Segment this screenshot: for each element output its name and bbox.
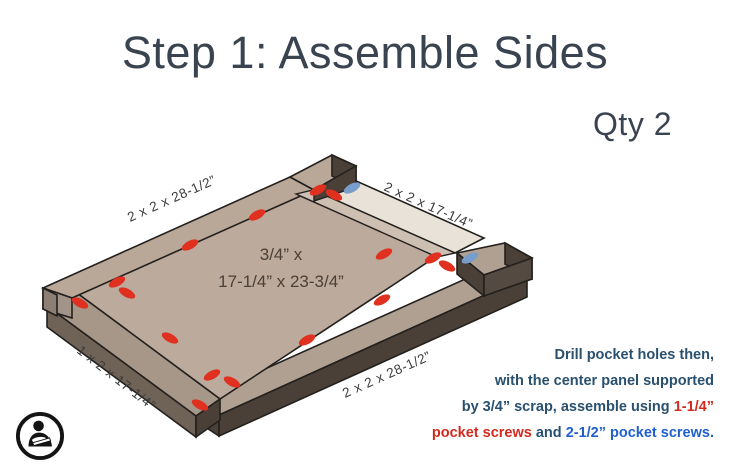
instructions-block: Drill pocket holes then, with the center… — [384, 342, 714, 446]
instruction-line-2: with the center panel supported — [384, 368, 714, 394]
panel-size-label: 17-1/4” x 23-3/4” — [218, 272, 344, 291]
panel-thickness-label: 3/4” x — [260, 245, 303, 264]
instruction-line-3-text: by 3/4” scrap, assemble using — [462, 399, 674, 415]
instruction-line-3: by 3/4” scrap, assemble using 1-1/4” — [384, 394, 714, 420]
screw-size-short: 1-1/4” — [674, 399, 714, 415]
instruction-line-1: Drill pocket holes then, — [384, 342, 714, 368]
screw-type-short: pocket screws — [432, 425, 532, 441]
screw-type-long: 2-1/2” pocket screws. — [566, 425, 714, 441]
woodworker-roundel-logo — [16, 412, 64, 460]
instruction-conjunction: and — [532, 425, 566, 441]
instruction-line-4: pocket screws and 2-1/2” pocket screws. — [384, 420, 714, 446]
